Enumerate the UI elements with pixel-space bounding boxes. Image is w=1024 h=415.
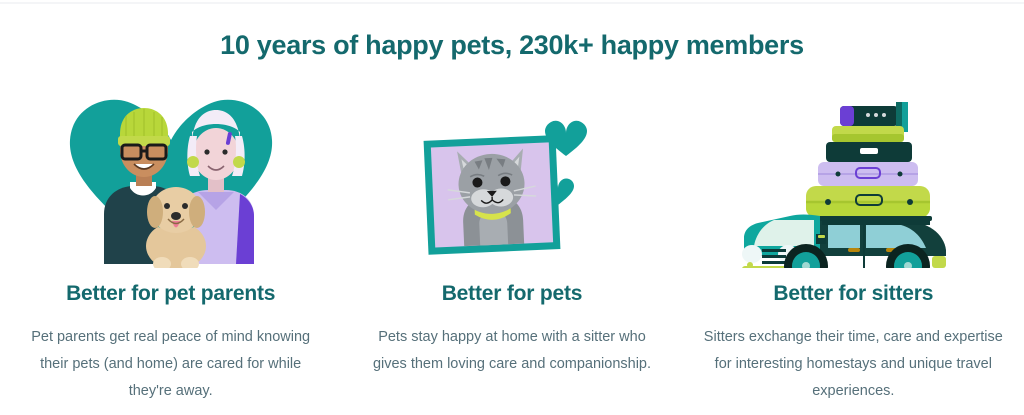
column-body: Pet parents get real peace of mind knowi… <box>21 324 321 405</box>
value-prop-column-pets: Better for pets Pets stay happy at home … <box>341 88 682 378</box>
column-title: Better for pets <box>442 282 583 306</box>
column-title: Better for sitters <box>773 282 933 306</box>
column-title: Better for pet parents <box>66 282 275 306</box>
column-body: Pets stay happy at home with a sitter wh… <box>362 324 662 378</box>
value-prop-columns: Better for pet parents Pet parents get r… <box>0 88 1024 405</box>
top-divider <box>0 2 1024 4</box>
value-prop-column-sitters: Better for sitters Sitters exchange thei… <box>683 88 1024 405</box>
section-heading: 10 years of happy pets, 230k+ happy memb… <box>0 30 1024 61</box>
column-body: Sitters exchange their time, care and ex… <box>697 324 1009 405</box>
car-with-luggage-illustration <box>728 88 978 268</box>
cat-photo-frame-hearts-illustration <box>412 88 612 268</box>
heart-family-dog-illustration <box>56 88 286 268</box>
value-props-section: 10 years of happy pets, 230k+ happy memb… <box>0 0 1024 415</box>
value-prop-column-pet-parents: Better for pet parents Pet parents get r… <box>0 88 341 405</box>
